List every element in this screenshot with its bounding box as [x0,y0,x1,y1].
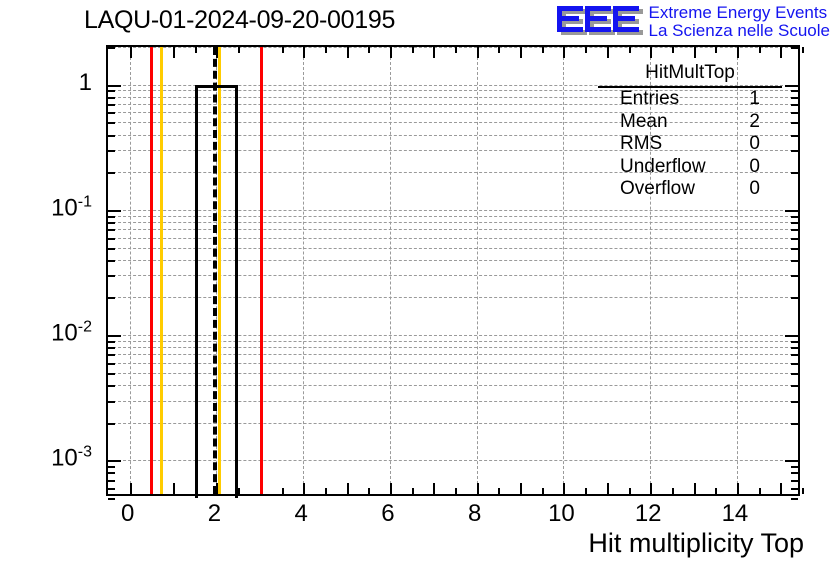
y-axis-tick-right [791,90,798,92]
x-axis-tick [368,488,370,494]
y-axis-tick-right [791,104,798,106]
y-axis-tick-right [785,335,798,337]
y-axis-tick [108,90,115,92]
y-axis-tick-right [791,488,798,490]
x-axis-tick [303,483,305,494]
y-axis-tick-right [791,466,798,468]
y-axis-tick [108,401,115,403]
y-tick-label: 10-1 [51,193,92,222]
x-axis-tick-top [520,47,522,58]
y-axis-tick [108,347,115,349]
y-axis-tick [108,480,115,482]
y-axis-tick-right [791,341,798,343]
y-axis-tick [108,47,115,49]
x-axis-tick [412,488,414,494]
x-axis-tick [347,483,349,494]
y-axis-tick-right [791,122,798,124]
x-axis-tick [282,488,284,494]
y-axis-tick [108,498,115,500]
y-axis-tick-right [791,172,798,174]
y-axis-tick [108,363,115,365]
y-tick-label: 1 [79,69,92,97]
y-axis-tick [108,135,115,137]
x-axis-tick-top [238,47,240,53]
x-axis-tick-top [455,47,457,53]
y-axis-tick-right [791,385,798,387]
x-axis-tick [477,483,479,494]
y-axis-tick-right [791,216,798,218]
y-axis-tick-right [791,275,798,277]
x-axis-tick-top [368,47,370,53]
y-axis-tick-right [791,423,798,425]
y-tick-label: 10-2 [51,319,92,348]
y-axis-tick-right [791,47,798,49]
y-axis-tick [108,229,115,231]
eee-logo-text: Extreme Energy Events La Scienza nelle S… [649,4,830,40]
eee-tagline-1: Extreme Energy Events [649,4,830,22]
x-axis-title: Hit multiplicity Top [588,528,804,559]
x-tick-label: 8 [468,500,481,528]
y-axis-tick [108,97,115,99]
y-axis-tick [108,248,115,250]
x-axis-tick [672,488,674,494]
gridline-vertical [563,47,564,494]
x-axis-tick-top [759,47,761,53]
x-axis-tick [607,483,609,494]
x-axis-tick-top [433,47,435,58]
x-axis-tick [780,483,782,494]
y-axis-tick-right [791,401,798,403]
y-axis-tick [108,460,121,462]
x-axis-tick-top [780,47,782,58]
x-axis-tick-top [173,47,175,58]
x-tick-label: 2 [208,500,221,528]
stats-row-value: 0 [749,133,760,156]
eee-tagline-2: La Scienza nelle Scuole [649,22,830,40]
x-axis-tick-top [802,47,804,53]
stats-row-label: RMS [620,133,662,156]
y-axis-tick-right [791,238,798,240]
gridline-vertical [477,47,478,494]
x-axis-tick-top [585,47,587,53]
x-tick-label: 4 [295,500,308,528]
y-axis-tick [108,216,115,218]
stats-box: HitMultTop Entries1Mean2RMS0Underflow0Ov… [598,62,782,201]
x-axis-tick-top [477,47,479,58]
y-axis-tick-right [791,229,798,231]
gridline-vertical [390,47,391,494]
x-axis-tick [802,488,804,494]
x-axis-tick [629,488,631,494]
stats-row: Overflow0 [598,178,782,201]
x-axis-tick [325,488,327,494]
x-axis-tick-top [694,47,696,58]
x-axis-tick [737,483,739,494]
y-axis-tick-right [791,354,798,356]
x-axis-tick [498,488,500,494]
x-axis-tick [759,488,761,494]
y-axis-tick [108,373,115,375]
x-axis-tick-top [672,47,674,53]
y-axis-tick-right [791,150,798,152]
x-axis-tick-top [542,47,544,53]
y-axis-tick [108,472,115,474]
y-axis-tick [108,466,115,468]
x-axis-tick [563,483,565,494]
gridline-vertical [130,47,131,494]
x-axis-tick-top [498,47,500,53]
x-axis-tick-top [130,47,132,58]
stats-row-value: 0 [749,178,760,201]
y-axis-tick-right [791,347,798,349]
x-axis-tick-top [737,47,739,58]
x-tick-label: 10 [548,500,575,528]
stats-box-title: HitMultTop [598,62,782,88]
y-tick-label: 10-3 [51,444,92,473]
x-tick-label: 0 [121,500,134,528]
stats-row-label: Overflow [620,178,695,201]
x-axis-tick-top [412,47,414,53]
y-axis-tick-right [791,363,798,365]
x-axis-tick [542,488,544,494]
gridline-vertical [303,47,304,494]
x-axis-tick [173,483,175,494]
threshold-low-orange [160,47,163,494]
x-axis-tick-top [650,47,652,58]
y-axis-tick [108,85,121,87]
stats-row: Mean2 [598,111,782,134]
x-axis-tick [520,483,522,494]
y-axis-tick-right [791,472,798,474]
y-axis-tick [108,335,121,337]
x-axis-tick [455,488,457,494]
x-axis-tick-top [325,47,327,53]
x-axis-tick [650,483,652,494]
stats-row-value: 2 [749,111,760,134]
y-axis-tick-right [791,112,798,114]
y-axis-tick [108,488,115,490]
stats-row-value: 0 [749,156,760,179]
stats-row: Underflow0 [598,156,782,179]
x-axis-tick-top [390,47,392,58]
stats-row-label: Mean [620,111,668,134]
y-axis-tick [108,210,121,212]
x-axis-tick-top [563,47,565,58]
x-axis-tick [715,488,717,494]
x-tick-label: 6 [381,500,394,528]
threshold-high-red [260,47,263,494]
y-axis-tick-right [791,248,798,250]
y-axis-tick [108,172,115,174]
y-axis-tick-right [785,85,798,87]
y-axis-tick-right [791,260,798,262]
y-axis-tick-right [791,222,798,224]
stats-box-rows: Entries1Mean2RMS0Underflow0Overflow0 [598,88,782,201]
page-title: LAQU-01-2024-09-20-00195 [84,6,395,35]
y-axis-tick-right [785,460,798,462]
y-axis-tick-right [791,135,798,137]
histogram-bar [195,85,238,498]
x-tick-label: 14 [722,500,749,528]
x-axis-tick-top [715,47,717,53]
x-axis-tick [433,483,435,494]
stats-row-label: Entries [620,88,679,111]
x-axis-tick-top [629,47,631,53]
y-axis-tick-right [791,373,798,375]
x-axis-tick [585,488,587,494]
y-axis-tick [108,354,115,356]
y-axis-tick [108,104,115,106]
threshold-low-red [150,47,153,494]
x-axis-tick-top [347,47,349,58]
y-axis-tick-right [791,480,798,482]
x-axis-tick [130,483,132,494]
y-axis-tick [108,222,115,224]
stats-row: RMS0 [598,133,782,156]
y-axis-tick-right [791,498,798,500]
y-axis-tick [108,260,115,262]
x-axis-tick [390,483,392,494]
y-axis-tick [108,385,115,387]
y-axis-tick-right [785,210,798,212]
eee-letters-icon [555,3,643,41]
stats-row-value: 1 [749,88,760,111]
y-axis-tick [108,238,115,240]
stats-row: Entries1 [598,88,782,111]
stats-row-label: Underflow [620,156,706,179]
y-axis-tick-right [791,297,798,299]
y-axis-tick [108,297,115,299]
y-axis-tick [108,275,115,277]
x-tick-label: 12 [635,500,662,528]
x-axis-tick [238,488,240,494]
y-axis-tick [108,150,115,152]
y-axis-tick [108,423,115,425]
eee-logo: Extreme Energy Events La Scienza nelle S… [555,2,830,42]
x-axis-tick-top [607,47,609,58]
y-axis-tick [108,122,115,124]
x-axis-tick-top [282,47,284,53]
y-axis-tick [108,112,115,114]
y-axis-tick-right [791,97,798,99]
x-axis-tick-top [195,47,197,53]
x-axis-tick-top [303,47,305,58]
x-axis-tick [694,483,696,494]
y-axis-tick [108,341,115,343]
